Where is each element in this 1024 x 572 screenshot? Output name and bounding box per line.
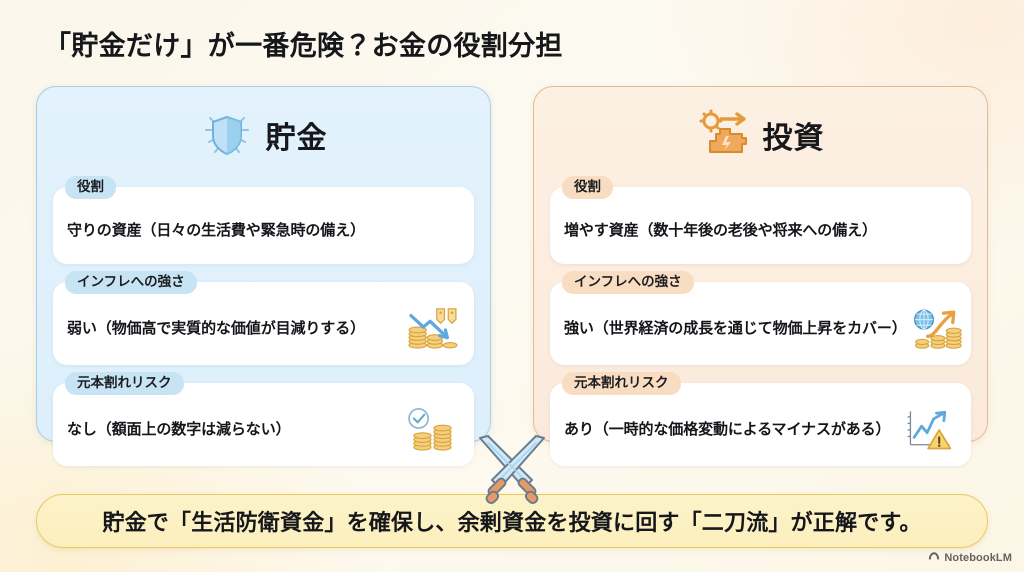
check-coins-icon [404,399,460,453]
comparison-cards: 貯金 役割 守りの資産（日々の生活費や緊急時の備え） インフレへの強さ 弱い（物… [36,86,988,442]
row-savings-risk: 元本割れリスク なし（額面上の数字は減らない） [53,383,474,466]
row-savings-inflation: インフレへの強さ 弱い（物価高で実質的な価値が目減りする） [53,282,474,365]
row-value: なし（額面上の数字は減らない） [67,412,402,440]
chip-label: インフレへの強さ [65,271,197,294]
chip-label: 元本割れリスク [562,372,681,395]
row-value: 弱い（物価高で実質的な価値が目減りする） [67,311,402,339]
row-savings-role: 役割 守りの資産（日々の生活費や緊急時の備え） [53,187,474,264]
globe-growth-coins-icon [909,298,965,352]
notebooklm-label: NotebookLM [944,552,1012,564]
card-investment: 投資 役割 増やす資産（数十年後の老後や将来への備え） インフレへの強さ 強い（… [533,86,988,442]
shield-icon [200,108,254,162]
crossed-swords-icon [466,428,558,508]
card-investment-title: 投資 [763,113,825,157]
chip-label: 元本割れリスク [65,372,184,395]
chip-label: 役割 [65,176,116,199]
page-title: 「貯金だけ」が一番危険？お金の役割分担 [44,24,563,63]
chip-label: 役割 [562,176,613,199]
card-savings-title: 貯金 [266,113,328,157]
card-savings: 貯金 役割 守りの資産（日々の生活費や緊急時の備え） インフレへの強さ 弱い（物… [36,86,491,442]
row-value: 強い（世界経済の成長を通じて物価上昇をカバー） [564,311,907,339]
row-value: 守りの資産（日々の生活費や緊急時の備え） [67,213,460,241]
card-savings-header: 貯金 [53,101,474,169]
chip-label: インフレへの強さ [562,271,694,294]
conclusion-text: 貯金で「生活防衛資金」を確保し、余剰資金を投資に回す「二刀流」が正解です。 [102,505,921,537]
notebooklm-watermark: NotebookLM [928,549,1012,567]
volatility-warning-icon [901,399,957,453]
row-value: 増やす資産（数十年後の老後や将来への備え） [564,213,957,241]
card-investment-header: 投資 [550,101,971,169]
row-investment-inflation: インフレへの強さ 強い（世界経済の成長を通じて物価上昇をカバー） [550,282,971,365]
chart-decreasing-coins-icon [404,298,460,352]
row-investment-role: 役割 増やす資産（数十年後の老後や将来への備え） [550,187,971,264]
row-investment-risk: 元本割れリスク あり（一時的な価格変動によるマイナスがある） [550,383,971,466]
engine-gear-icon [697,108,751,162]
infographic-page: 「貯金だけ」が一番危険？お金の役割分担 [0,0,1024,572]
notebooklm-logo-icon [928,549,940,567]
row-value: あり（一時的な価格変動によるマイナスがある） [564,412,899,440]
